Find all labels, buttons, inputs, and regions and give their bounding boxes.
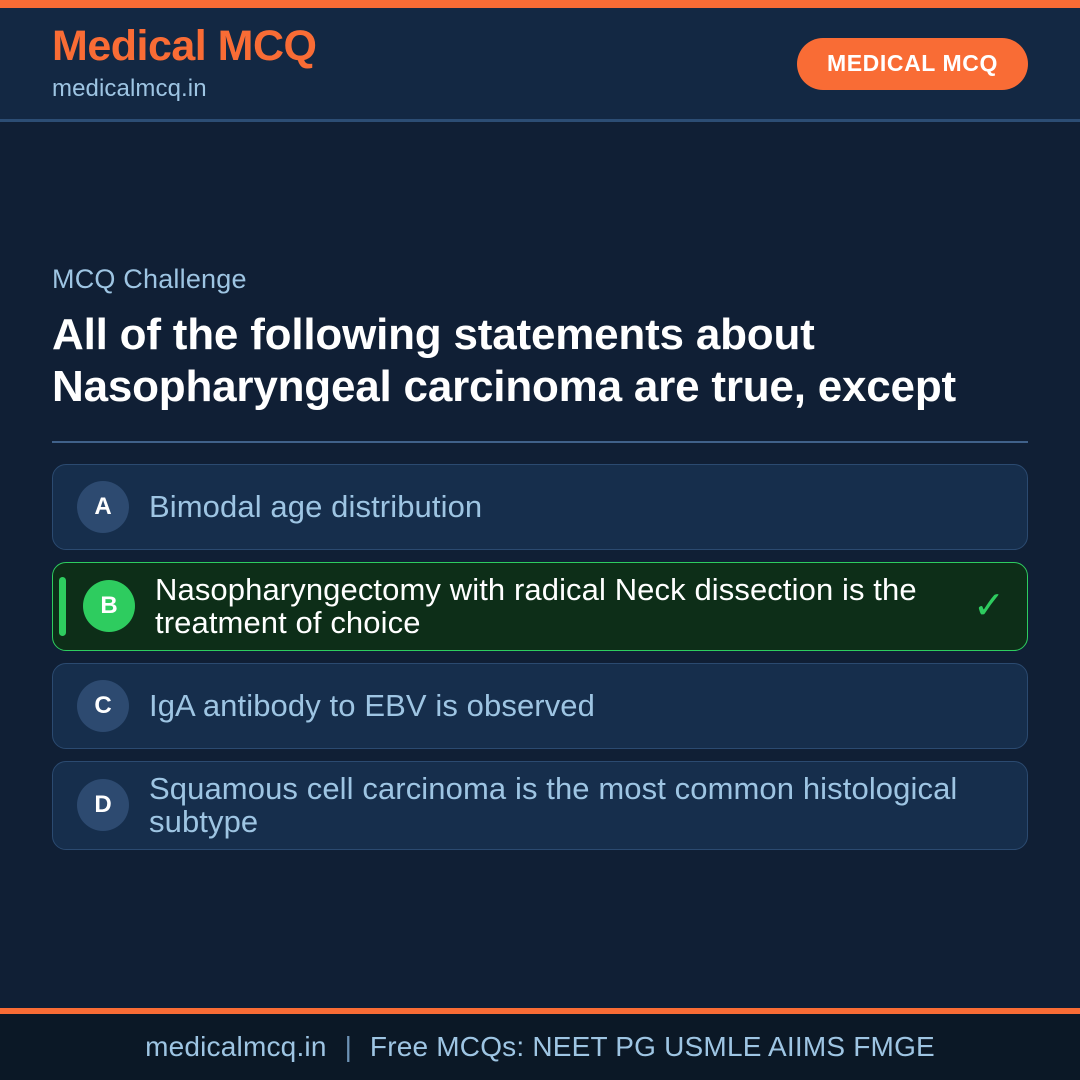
brand-title: Medical MCQ xyxy=(52,25,317,68)
top-accent-bar xyxy=(0,0,1080,8)
option-c[interactable]: C IgA antibody to EBV is observed xyxy=(52,663,1028,749)
brand: Medical MCQ medicalmcq.in xyxy=(52,25,317,101)
option-label: Nasopharyngectomy with radical Neck diss… xyxy=(155,573,967,640)
mcq-card: Medical MCQ medicalmcq.in MEDICAL MCQ MC… xyxy=(0,0,1080,1080)
option-label: Bimodal age distribution xyxy=(149,490,482,523)
option-letter: B xyxy=(83,580,135,632)
kicker-label: MCQ Challenge xyxy=(52,266,1028,293)
page-header: Medical MCQ medicalmcq.in MEDICAL MCQ xyxy=(0,8,1080,122)
footer-links: Free MCQs: NEET PG USMLE AIIMS FMGE xyxy=(370,1031,935,1063)
option-d[interactable]: D Squamous cell carcinoma is the most co… xyxy=(52,761,1028,850)
option-b[interactable]: B Nasopharyngectomy with radical Neck di… xyxy=(52,562,1028,651)
option-letter: A xyxy=(77,481,129,533)
main-content: MCQ Challenge All of the following state… xyxy=(0,122,1080,1008)
footer-site: medicalmcq.in xyxy=(145,1031,327,1063)
check-icon: ✓ xyxy=(973,587,1005,625)
option-a[interactable]: A Bimodal age distribution xyxy=(52,464,1028,550)
footer-separator: | xyxy=(327,1031,370,1063)
page-footer: medicalmcq.in | Free MCQs: NEET PG USMLE… xyxy=(0,1008,1080,1080)
question-divider xyxy=(52,441,1028,443)
options-list: A Bimodal age distribution B Nasopharyng… xyxy=(52,464,1028,850)
question-text: All of the following statements about Na… xyxy=(52,309,1028,413)
option-label: Squamous cell carcinoma is the most comm… xyxy=(149,772,967,839)
option-label: IgA antibody to EBV is observed xyxy=(149,689,595,722)
option-letter: D xyxy=(77,779,129,831)
option-letter: C xyxy=(77,680,129,732)
brand-subtitle: medicalmcq.in xyxy=(52,77,317,101)
brand-badge: MEDICAL MCQ xyxy=(797,38,1028,90)
